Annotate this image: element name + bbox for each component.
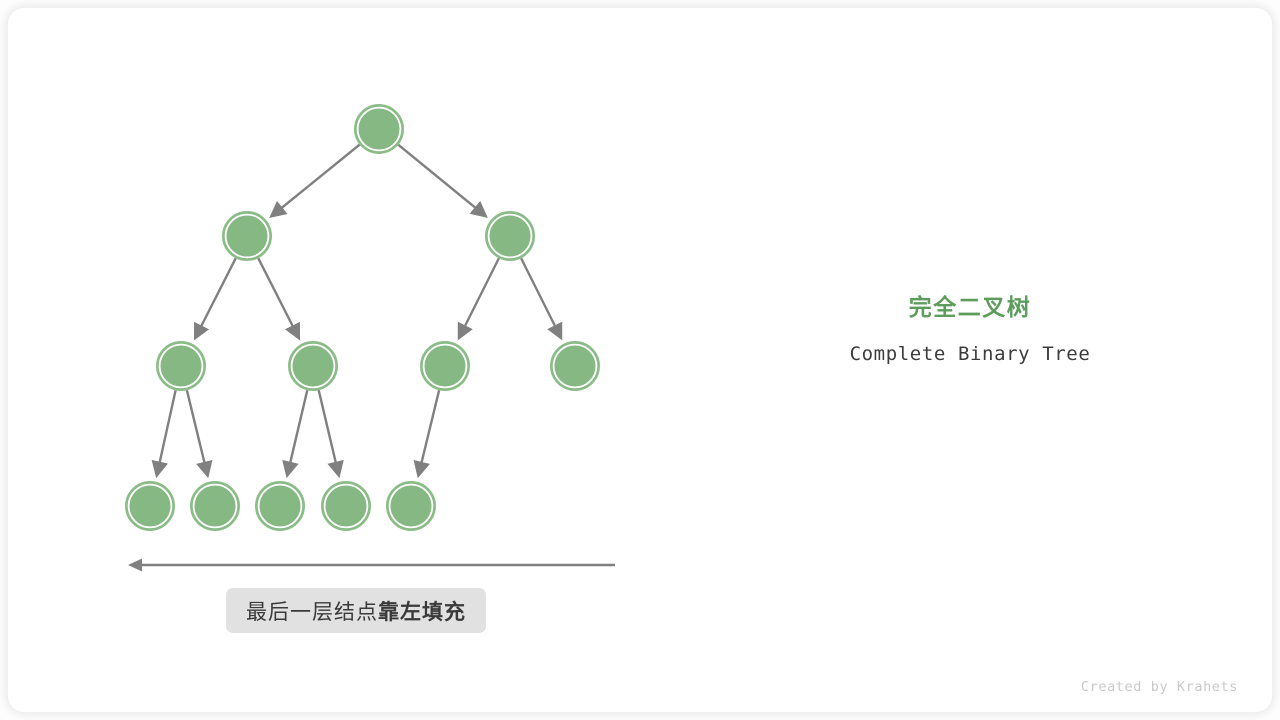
tree-node (421, 342, 469, 390)
tree-node (256, 482, 304, 530)
tree-edge (157, 390, 176, 475)
tree-node (486, 212, 534, 260)
tree-edge (195, 258, 236, 338)
credit-text: Created by Krahets (1081, 679, 1238, 695)
tree-node (157, 342, 205, 390)
fill-arrow-head (128, 559, 142, 572)
tree-node (223, 212, 271, 260)
tree-edge (287, 390, 307, 475)
tree-edge (521, 258, 561, 338)
tree-node (289, 342, 337, 390)
tree-edge (271, 145, 359, 217)
tree-edges (157, 145, 561, 476)
tree-node (322, 482, 370, 530)
tree-edge (398, 145, 486, 217)
caption-block: 完全二叉树 Complete Binary Tree (760, 292, 1180, 365)
tree-edge (418, 390, 439, 476)
tree-edge (258, 258, 299, 338)
tree-edge (319, 390, 339, 475)
diagram-title: 完全二叉树 (760, 292, 1180, 323)
tree-nodes (126, 105, 599, 530)
annotation-chip-text-normal: 最后一层结点 (246, 596, 378, 626)
tree-node (191, 482, 239, 530)
diagram-subtitle: Complete Binary Tree (760, 343, 1180, 365)
tree-edge (187, 390, 208, 476)
fill-direction-arrow (128, 559, 615, 572)
tree-node (355, 105, 403, 153)
tree-edge (459, 258, 499, 338)
tree-node (126, 482, 174, 530)
tree-node (387, 482, 435, 530)
annotation-chip: 最后一层结点 靠左填充 (226, 588, 486, 633)
diagram-canvas: 完全二叉树 Complete Binary Tree 最后一层结点 靠左填充 C… (0, 0, 1280, 720)
annotation-chip-text-bold: 靠左填充 (378, 596, 466, 626)
tree-node (551, 342, 599, 390)
